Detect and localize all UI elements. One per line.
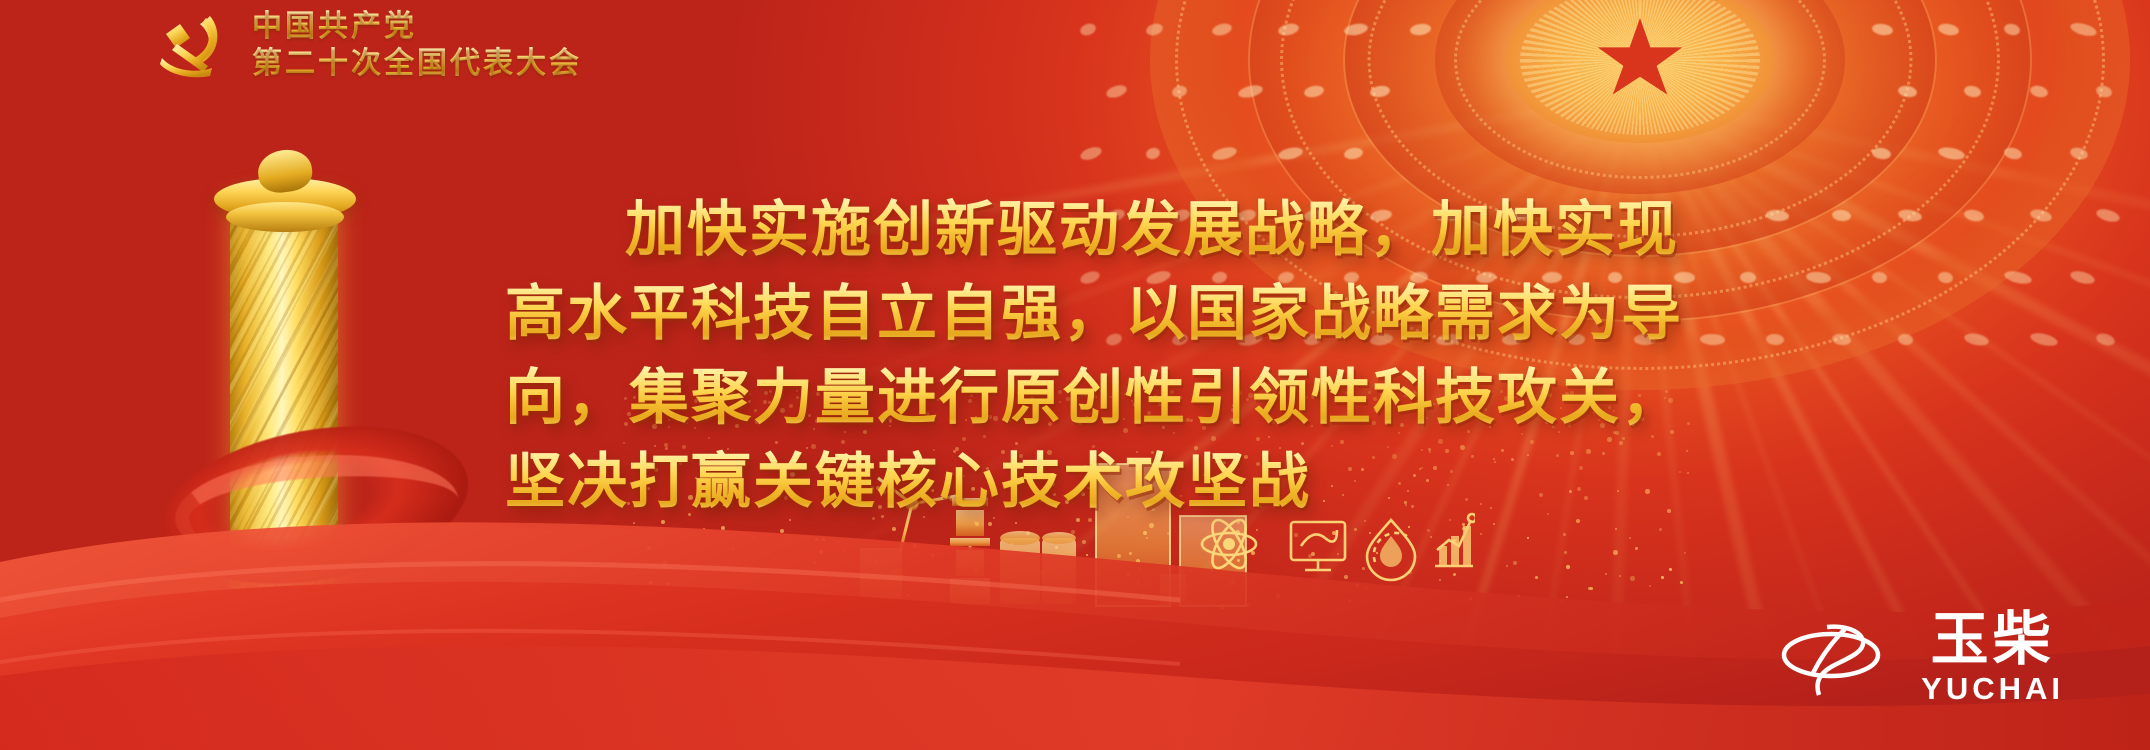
slogan-line-3: 向，集聚力量进行原创性引领性科技攻关， <box>505 356 1705 440</box>
slogan-line-4: 坚决打赢关键核心技术攻坚战 <box>505 440 1705 524</box>
yuchai-logo: 玉柴 YUCHAI <box>1775 608 2064 706</box>
congress-title: 中国共产党 第二十次全国代表大会 <box>252 9 582 82</box>
sunburst-glow <box>1520 0 1760 135</box>
congress-banner: 中国共产党 第二十次全国代表大会 加快实施创新驱动发展战略，加快实现 高水平科技… <box>0 0 2150 750</box>
pillar-cap-inner <box>226 202 344 232</box>
low-building <box>860 548 902 604</box>
yuchai-ellipse-mark <box>1775 611 1905 703</box>
yuchai-wordmark: 玉柴 YUCHAI <box>1921 608 2064 706</box>
annex-building <box>1160 574 1186 606</box>
congress-title-line-2: 第二十次全国代表大会 <box>252 46 582 81</box>
congress-title-line-1: 中国共产党 <box>252 9 582 44</box>
yuchai-name-en: YUCHAI <box>1921 672 2064 706</box>
water-drop-recycle-icon <box>1367 520 1415 580</box>
congress-header-lockup: 中国共产党 第二十次全国代表大会 <box>150 8 582 82</box>
yuchai-name-cn: 玉柴 <box>1931 608 2055 670</box>
office-building-icon <box>1180 516 1246 606</box>
red-star <box>1596 18 1684 102</box>
slogan-line-2: 高水平科技自立自强，以国家战略需求为导 <box>505 272 1705 356</box>
slogan-line-1: 加快实施创新驱动发展战略，加快实现 <box>505 188 1705 272</box>
storage-tank-icon <box>1000 531 1076 604</box>
hammer-and-sickle-emblem <box>150 8 232 82</box>
monitor-icon <box>1291 522 1345 570</box>
slogan-block: 加快实施创新驱动发展战略，加快实现 高水平科技自立自强，以国家战略需求为导 向，… <box>505 188 1705 524</box>
